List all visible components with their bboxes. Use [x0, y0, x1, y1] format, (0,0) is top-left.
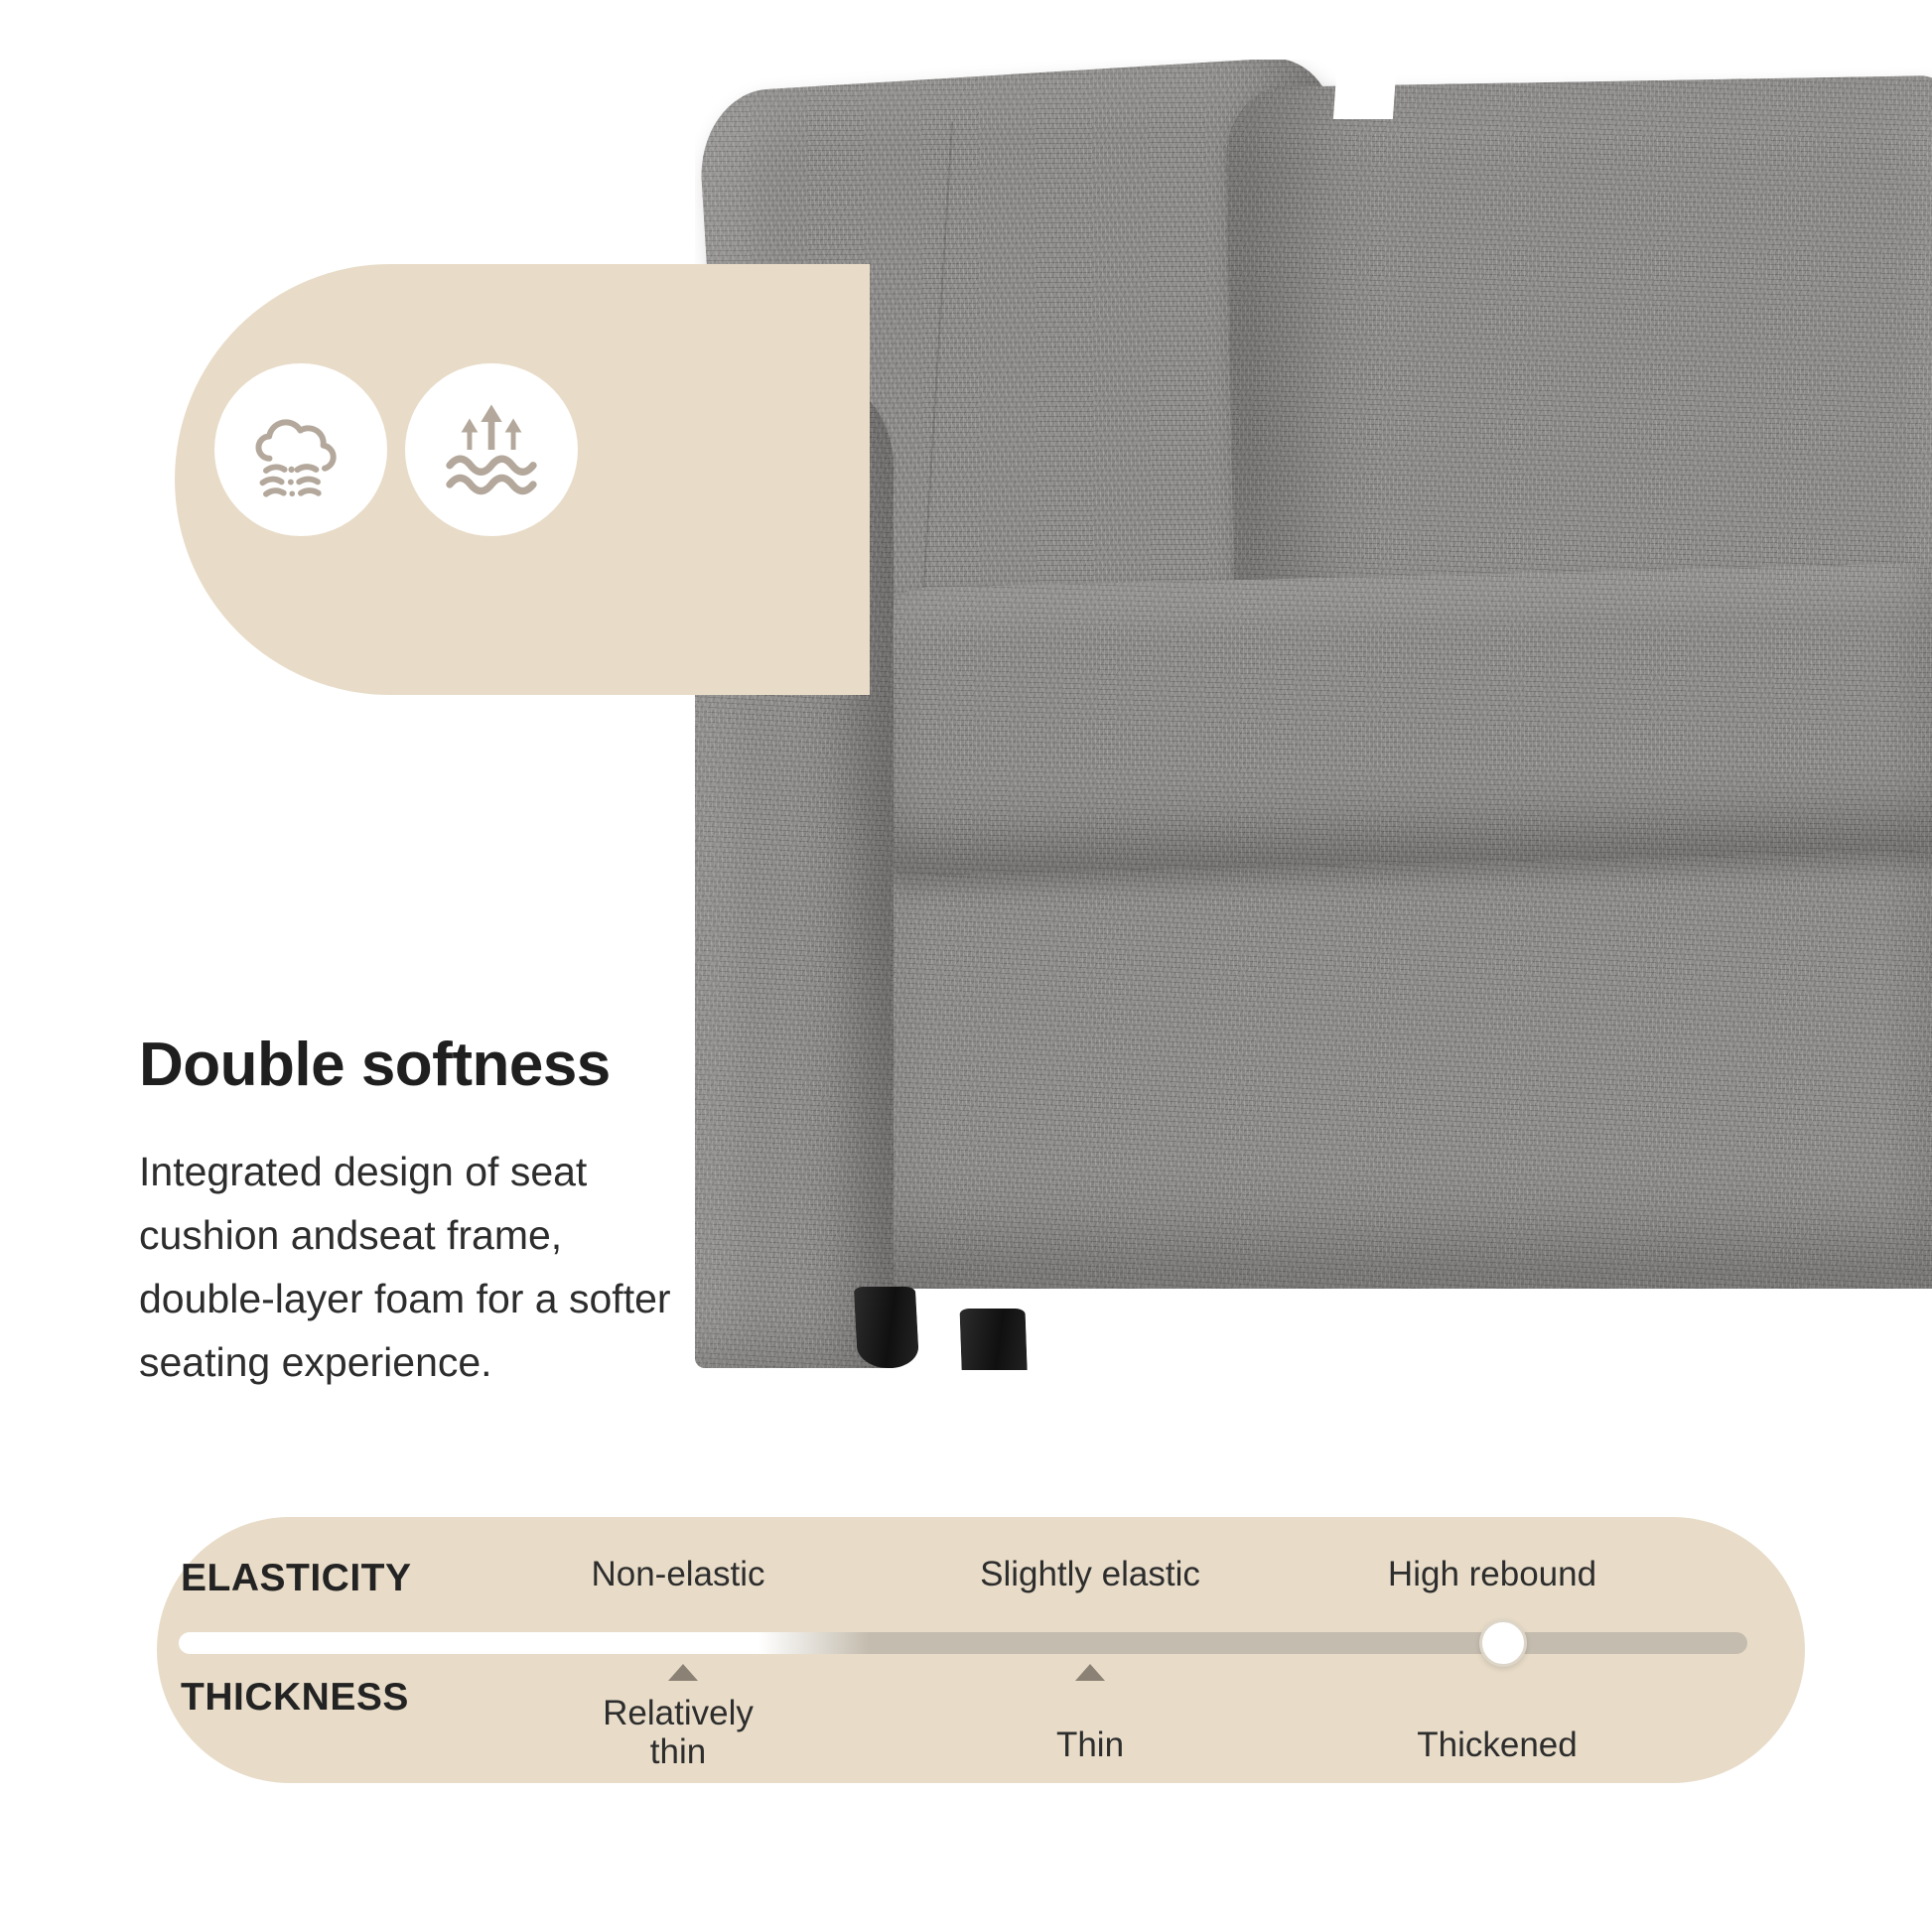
thickness-tick-thickened: Thickened: [1378, 1725, 1616, 1764]
thickness-row-label: THICKNESS: [181, 1676, 409, 1720]
spec-slider-panel: ELASTICITY THICKNESS Non-elastic Slightl…: [157, 1517, 1805, 1783]
elasticity-tick-high-rebound: High rebound: [1363, 1555, 1621, 1593]
sofa-leg-left: [854, 1287, 919, 1368]
elasticity-row-label: ELASTICITY: [181, 1557, 412, 1600]
description-text: Integrated design of seat cushion andsea…: [139, 1141, 695, 1395]
elasticity-tick-slightly-elastic: Slightly elastic: [951, 1555, 1229, 1593]
rebound-waves-icon: [436, 394, 547, 505]
feature-badge-pill: [175, 264, 870, 695]
infographic-canvas: Double softness Integrated design of sea…: [0, 0, 1932, 1932]
spec-slider-track[interactable]: [179, 1632, 1747, 1654]
thickness-tick-relatively-thin: Relatively thin: [594, 1694, 762, 1771]
cloud-soft-badge: [214, 363, 387, 536]
elasticity-tick-non-elastic: Non-elastic: [554, 1555, 802, 1593]
cloud-soft-icon: [245, 394, 356, 505]
seat-cushion: [859, 563, 1932, 878]
cushion-gap: [1333, 60, 1397, 119]
sofa-leg-right: [959, 1309, 1028, 1370]
caret-up-thin: [1075, 1664, 1105, 1681]
caret-up-relatively-thin: [668, 1664, 698, 1681]
rebound-badge: [405, 363, 578, 536]
spec-slider-thumb[interactable]: [1479, 1619, 1527, 1667]
sofa-product-photo: [695, 60, 1932, 1370]
page-title: Double softness: [139, 1033, 695, 1097]
thickness-tick-thin: Thin: [971, 1725, 1209, 1764]
feature-text-block: Double softness Integrated design of sea…: [139, 1033, 695, 1395]
